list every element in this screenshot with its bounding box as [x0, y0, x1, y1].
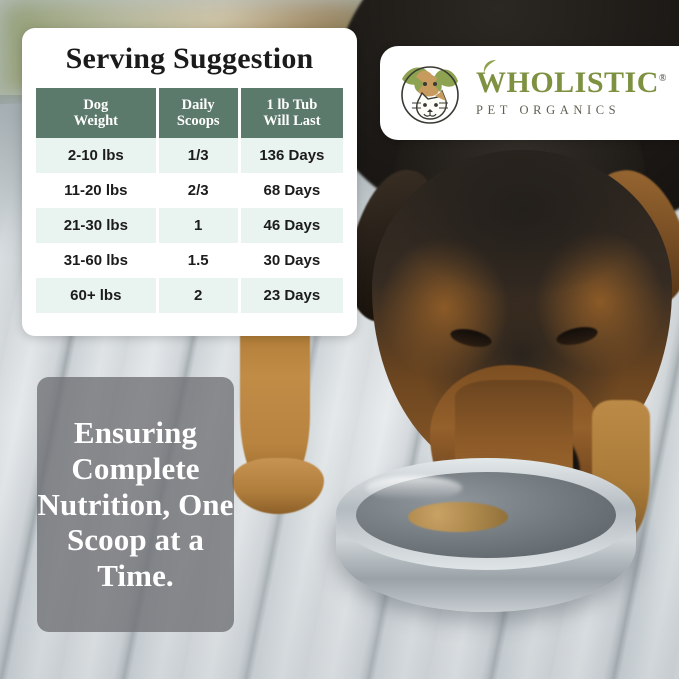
page-title: Serving Suggestion — [22, 28, 357, 76]
cell-tub-duration: 23 Days — [241, 278, 343, 313]
table-row: 31-60 lbs 1.5 30 Days — [36, 243, 343, 278]
dog-and-cat-leaf-circle-icon — [394, 57, 466, 129]
cell-dog-weight: 11-20 lbs — [36, 173, 156, 208]
cell-tub-duration: 68 Days — [241, 173, 343, 208]
cell-dog-weight: 31-60 lbs — [36, 243, 156, 278]
column-header-daily-scoops: Daily Scoops — [159, 88, 238, 138]
table-row: 11-20 lbs 2/3 68 Days — [36, 173, 343, 208]
column-header-dog-weight: Dog Weight — [36, 88, 156, 138]
cell-daily-scoops: 1/3 — [159, 138, 238, 173]
cell-dog-weight: 2-10 lbs — [36, 138, 156, 173]
table-header-row: Dog Weight Daily Scoops 1 lb Tub Will La… — [36, 88, 343, 138]
serving-suggestion-card: Serving Suggestion Dog Weight Daily Scoo… — [22, 28, 357, 336]
tagline-box: Ensuring Complete Nutrition, One Scoop a… — [37, 377, 234, 632]
brand-logo-card: WHOLISTIC® PET ORGANICS — [380, 46, 679, 140]
serving-suggestion-table: Dog Weight Daily Scoops 1 lb Tub Will La… — [33, 88, 346, 313]
brand-subtitle: PET ORGANICS — [476, 103, 667, 118]
cell-dog-weight: 60+ lbs — [36, 278, 156, 313]
registered-trademark-icon: ® — [659, 73, 667, 84]
brand-wordmark: WHOLISTIC® PET ORGANICS — [476, 68, 667, 118]
cell-dog-weight: 21-30 lbs — [36, 208, 156, 243]
cell-tub-duration: 46 Days — [241, 208, 343, 243]
table-row: 21-30 lbs 1 46 Days — [36, 208, 343, 243]
kibble-icon — [408, 502, 508, 532]
bowl-highlight-icon — [366, 476, 462, 500]
table-row: 2-10 lbs 1/3 136 Days — [36, 138, 343, 173]
tagline-text: Ensuring Complete Nutrition, One Scoop a… — [37, 415, 234, 595]
product-infographic: Serving Suggestion Dog Weight Daily Scoo… — [0, 0, 679, 679]
leaf-icon — [482, 59, 498, 75]
brand-name: WHOLISTIC® — [476, 68, 667, 98]
table-row: 60+ lbs 2 23 Days — [36, 278, 343, 313]
cell-daily-scoops: 1.5 — [159, 243, 238, 278]
cell-tub-duration: 136 Days — [241, 138, 343, 173]
cell-daily-scoops: 2 — [159, 278, 238, 313]
cell-daily-scoops: 2/3 — [159, 173, 238, 208]
cell-daily-scoops: 1 — [159, 208, 238, 243]
cell-tub-duration: 30 Days — [241, 243, 343, 278]
column-header-tub-duration: 1 lb Tub Will Last — [241, 88, 343, 138]
